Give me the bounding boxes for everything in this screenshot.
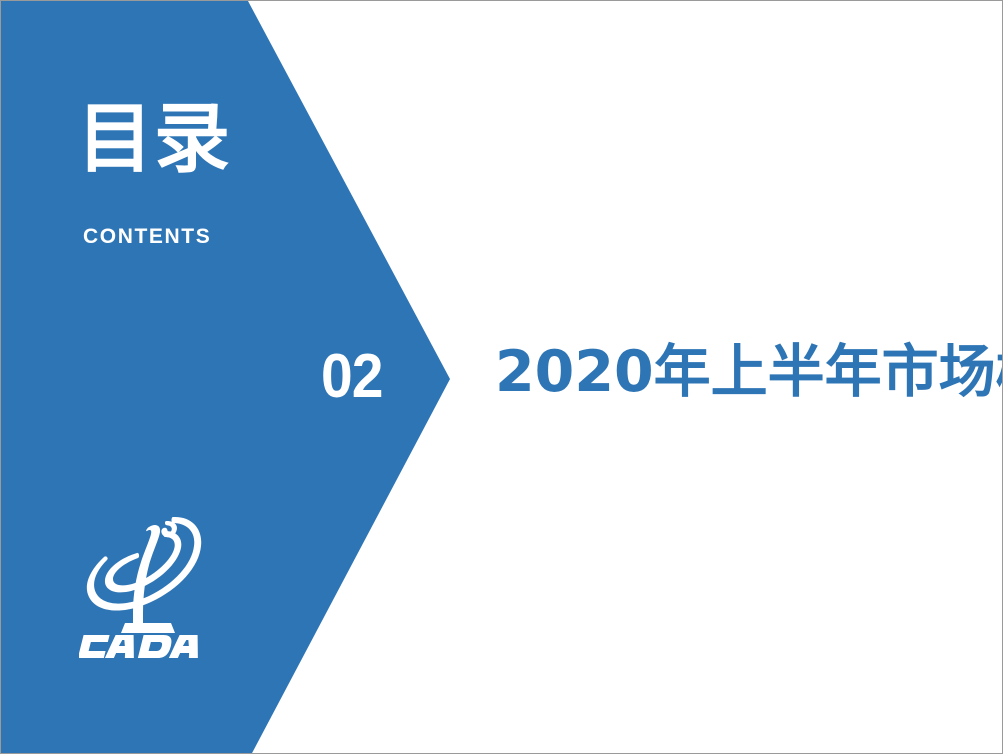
contents-heading-chinese: 目录: [77, 99, 231, 179]
section-number: 02: [321, 346, 383, 408]
blue-chevron-shape: [1, 1, 461, 754]
contents-heading-english: CONTENTS: [83, 225, 211, 249]
cada-swirl-icon: [79, 501, 211, 661]
presentation-slide: 目录 CONTENTS 02 2020年上半年市场概况: [0, 0, 1003, 754]
section-title: 2020年上半年市场概况: [495, 341, 1003, 404]
cada-logo: [79, 501, 211, 661]
